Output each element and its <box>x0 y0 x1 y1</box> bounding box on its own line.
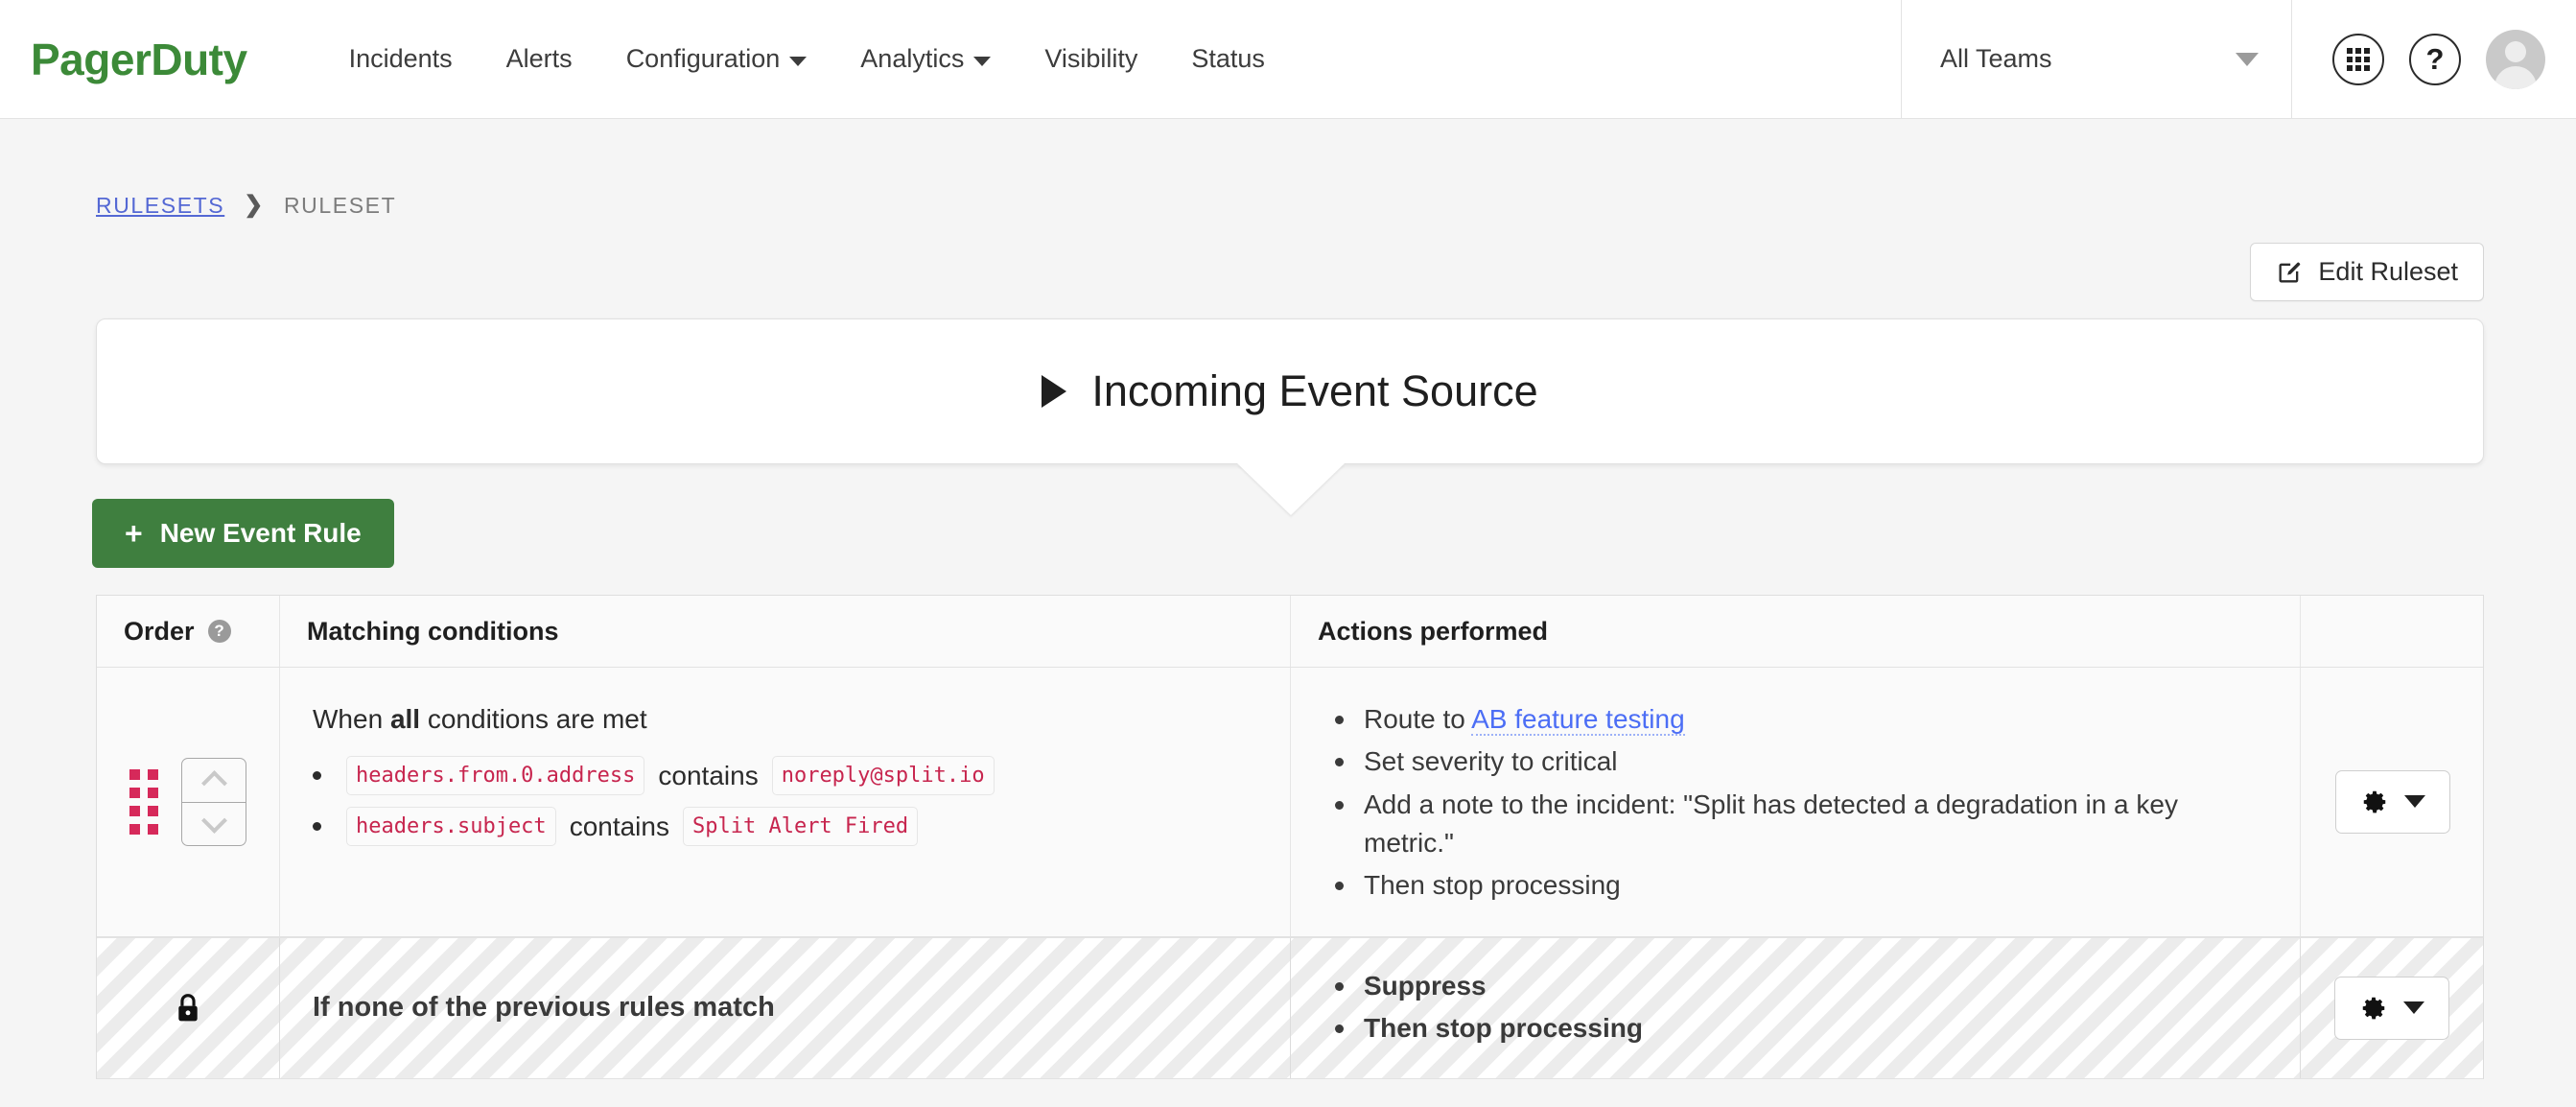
when-suffix: conditions are met <box>420 704 647 734</box>
default-rule-settings-menu-button[interactable] <box>2334 977 2449 1040</box>
nav-item-label: Alerts <box>506 44 573 74</box>
chevron-down-icon <box>2236 53 2259 66</box>
actions-list: Route to AB feature testing Set severity… <box>1335 700 2273 906</box>
question-mark-glyph: ? <box>2426 44 2445 74</box>
event-source-title-row[interactable]: Incoming Event Source <box>1042 366 1537 416</box>
breadcrumb-link-rulesets[interactable]: RULESETS <box>96 193 224 219</box>
event-source-panel-wrapper: Incoming Event Source <box>96 318 2484 464</box>
breadcrumb-current-ruleset: RULESET <box>284 193 396 219</box>
team-selector-value: All Teams <box>1940 44 2052 74</box>
action-text: Suppress <box>1364 971 1487 1001</box>
nav-item-incidents[interactable]: Incidents <box>322 44 480 74</box>
when-operator: all <box>390 704 420 734</box>
table-header: Order ? Matching conditions Actions perf… <box>97 596 2483 668</box>
event-source-title: Incoming Event Source <box>1091 366 1537 416</box>
matching-conditions-cell: When all conditions are met headers.from… <box>280 668 1291 936</box>
help-icon[interactable]: ? <box>2409 34 2461 85</box>
table-header-row: Order ? Matching conditions Actions perf… <box>97 596 2483 668</box>
nav-left-group: PagerDuty Incidents Alerts Configuration… <box>0 0 1901 118</box>
default-rule-label: If none of the previous rules match <box>313 992 775 1024</box>
lock-icon <box>174 992 202 1025</box>
condition-value-chip: Split Alert Fired <box>683 807 918 846</box>
action-text: Route to <box>1364 704 1471 734</box>
nav-item-label: Visibility <box>1044 44 1137 74</box>
default-actions-list: Suppress Then stop processing <box>1335 967 2273 1048</box>
user-avatar-icon[interactable] <box>2486 30 2545 89</box>
breadcrumb: RULESETS ❯ RULESET <box>0 119 2576 220</box>
default-rule-actions-cell: Suppress Then stop processing <box>1291 938 2301 1079</box>
nav-item-label: Analytics <box>860 44 964 74</box>
caret-down-icon <box>2404 795 2425 808</box>
pagerduty-logo[interactable]: PagerDuty <box>31 34 247 85</box>
condition-value-chip: noreply@split.io <box>772 756 995 795</box>
rule-menu-cell <box>2301 668 2484 936</box>
top-navigation-bar: PagerDuty Incidents Alerts Configuration… <box>0 0 2576 119</box>
edit-ruleset-label: Edit Ruleset <box>2318 257 2458 287</box>
new-event-rule-button[interactable]: + New Event Rule <box>92 499 394 568</box>
grid-apps-icon[interactable] <box>2332 34 2384 85</box>
column-header-order: Order ? <box>97 596 280 667</box>
order-stepper <box>181 758 246 846</box>
action-text: Set severity to critical <box>1364 746 1618 776</box>
default-action-suppress: Suppress <box>1335 967 2273 1005</box>
chevron-down-icon <box>789 57 807 66</box>
column-header-actions-performed: Actions performed <box>1291 596 2301 667</box>
rule-settings-menu-button[interactable] <box>2335 770 2450 834</box>
new-event-rule-label: New Event Rule <box>160 518 362 549</box>
default-rule-row: If none of the previous rules match Supp… <box>97 937 2483 1080</box>
chevron-right-icon: ❯ <box>244 191 265 219</box>
nav-item-label: Incidents <box>349 44 453 74</box>
action-item-route: Route to AB feature testing <box>1335 700 2273 739</box>
nav-menu: Incidents Alerts Configuration Analytics… <box>322 44 1292 74</box>
incoming-event-source-panel[interactable]: Incoming Event Source <box>96 318 2484 464</box>
edit-ruleset-button[interactable]: Edit Ruleset <box>2250 243 2484 301</box>
speech-bubble-tail <box>1237 463 1345 515</box>
default-rule-lock-cell <box>97 938 280 1079</box>
triangle-right-icon[interactable] <box>1042 375 1066 408</box>
column-header-order-label: Order <box>124 617 195 647</box>
condition-operator: contains <box>658 761 758 791</box>
chevron-down-icon <box>973 57 991 66</box>
service-link[interactable]: AB feature testing <box>1471 704 1685 736</box>
condition-field-chip: headers.subject <box>346 807 556 846</box>
move-rule-down-button[interactable] <box>182 802 246 845</box>
condition-item: headers.from.0.address contains noreply@… <box>313 756 1263 795</box>
table-row: When all conditions are met headers.from… <box>97 668 2483 937</box>
table-body: When all conditions are met headers.from… <box>97 668 2483 1079</box>
chevron-up-icon <box>201 770 227 796</box>
nav-item-visibility[interactable]: Visibility <box>1018 44 1164 74</box>
when-prefix: When <box>313 704 390 734</box>
team-selector-dropdown[interactable]: All Teams <box>1901 0 2292 118</box>
default-action-stop: Then stop processing <box>1335 1009 2273 1048</box>
default-rule-label-cell: If none of the previous rules match <box>280 938 1291 1079</box>
rule-order-cell <box>97 668 280 936</box>
nav-item-alerts[interactable]: Alerts <box>480 44 599 74</box>
drag-handle-icon[interactable] <box>129 769 158 835</box>
column-header-actions-label: Actions performed <box>1318 617 1548 647</box>
action-text: Add a note to the incident: "Split has d… <box>1364 789 2178 858</box>
toolbar-row: Edit Ruleset <box>0 220 2576 301</box>
caret-down-icon <box>2403 1001 2424 1014</box>
action-text: Then stop processing <box>1364 870 1621 900</box>
nav-item-configuration[interactable]: Configuration <box>599 44 834 74</box>
condition-item: headers.subject contains Split Alert Fir… <box>313 807 1263 846</box>
column-header-matching-conditions: Matching conditions <box>280 596 1291 667</box>
page-content: RULESETS ❯ RULESET Edit Ruleset Incoming… <box>0 119 2576 1079</box>
help-tooltip-icon[interactable]: ? <box>208 620 231 643</box>
column-header-row-menu <box>2301 596 2484 667</box>
grid-dots-glyph <box>2347 48 2370 71</box>
condition-field-chip: headers.from.0.address <box>346 756 644 795</box>
when-conditions-line: When all conditions are met <box>313 704 1263 735</box>
nav-item-status[interactable]: Status <box>1164 44 1292 74</box>
default-rule-menu-cell <box>2301 938 2484 1079</box>
plus-icon: + <box>125 518 143 549</box>
conditions-list: headers.from.0.address contains noreply@… <box>313 756 1263 846</box>
action-item-note: Add a note to the incident: "Split has d… <box>1335 786 2273 863</box>
nav-item-label: Configuration <box>626 44 781 74</box>
pencil-square-icon <box>2276 259 2303 286</box>
nav-item-label: Status <box>1191 44 1265 74</box>
gear-icon <box>2359 994 2388 1023</box>
chevron-down-icon <box>201 808 227 834</box>
event-rules-table: Order ? Matching conditions Actions perf… <box>96 595 2484 1079</box>
gear-icon <box>2360 788 2389 816</box>
nav-right-group: ? <box>2292 0 2576 118</box>
actions-performed-cell: Route to AB feature testing Set severity… <box>1291 668 2301 936</box>
action-item-stop: Then stop processing <box>1335 866 2273 905</box>
column-header-matching-label: Matching conditions <box>307 617 559 647</box>
nav-item-analytics[interactable]: Analytics <box>833 44 1018 74</box>
action-item-severity: Set severity to critical <box>1335 742 2273 781</box>
condition-operator: contains <box>570 812 669 842</box>
action-text: Then stop processing <box>1364 1013 1643 1043</box>
move-rule-up-button[interactable] <box>182 759 246 802</box>
